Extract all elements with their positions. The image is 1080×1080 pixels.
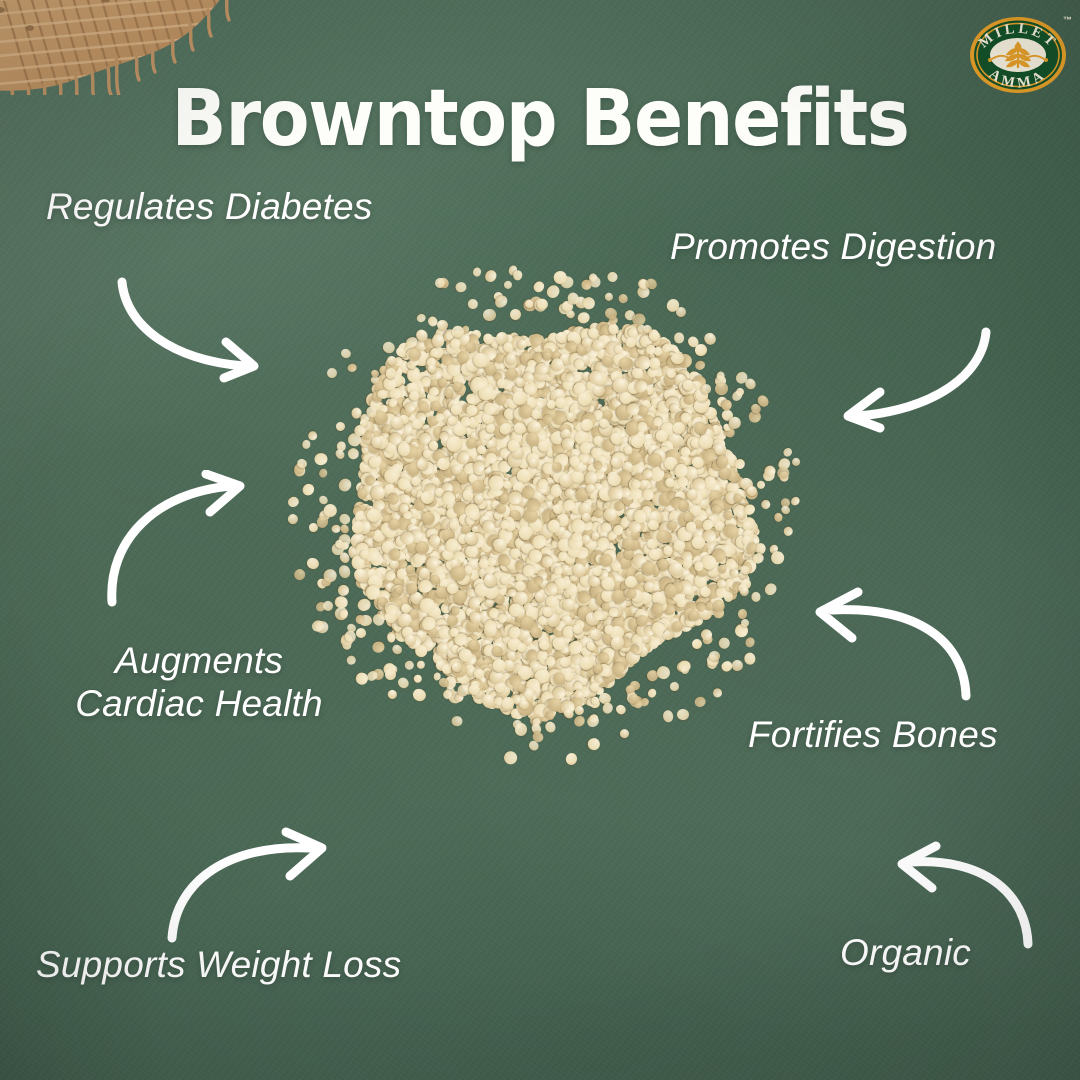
poster-canvas: MILLET AMMA ™ Browntop Benefits Regulate… [0,0,1080,1080]
background-vignette [0,0,1080,1080]
